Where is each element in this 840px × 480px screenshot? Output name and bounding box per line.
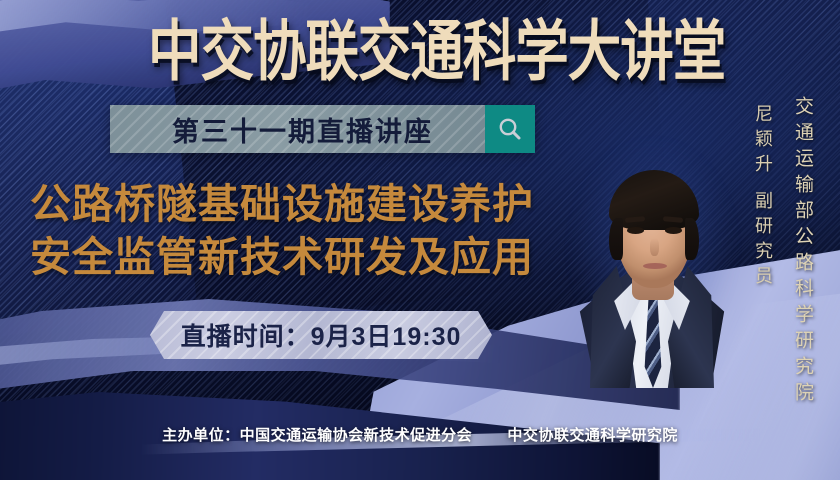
footer-organizer-secondary: 中交协联交通科学研究院 <box>507 427 678 444</box>
headline-line-2: 安全监管新技术研发及应用 <box>30 231 534 284</box>
speaker-organization: 交通运输部公路科学研究院 <box>789 96 816 408</box>
lecture-headline: 公路桥隧基础设施建设养护 安全监管新技术研发及应用 <box>30 178 534 285</box>
portrait-eye-right <box>665 227 682 234</box>
speaker-name-title: 尼颖升 副研究员 <box>750 104 776 291</box>
portrait-eye-left <box>627 227 644 234</box>
footer-organizer-primary: 主办单位：中国交通运输协会新技术促进分会 <box>162 427 472 444</box>
page-title: 中交协联交通科学大讲堂 <box>148 18 725 87</box>
footer-organizers: 主办单位：中国交通运输协会新技术促进分会 中交协联交通科学研究院 <box>0 424 840 445</box>
portrait-nose <box>650 238 659 256</box>
portrait-hair-side-left <box>609 218 623 260</box>
headline-line-1: 公路桥隧基础设施建设养护 <box>30 178 534 231</box>
broadcast-time-banner: 直播时间：9月3日19:30 <box>150 311 492 359</box>
speaker-portrait <box>568 88 736 388</box>
episode-banner: 第三十一期直播讲座 <box>110 105 535 153</box>
portrait-mouth <box>643 263 667 269</box>
livestream-poster: 中交协联交通科学大讲堂 第三十一期直播讲座 公路桥隧基础设施建设养护 安全监管新… <box>0 0 840 480</box>
portrait-hair-side-right <box>685 218 699 260</box>
broadcast-time-text: 直播时间：9月3日19:30 <box>181 317 462 353</box>
search-icon <box>496 115 524 143</box>
episode-label: 第三十一期直播讲座 <box>110 110 485 149</box>
search-icon-box[interactable] <box>485 105 535 153</box>
